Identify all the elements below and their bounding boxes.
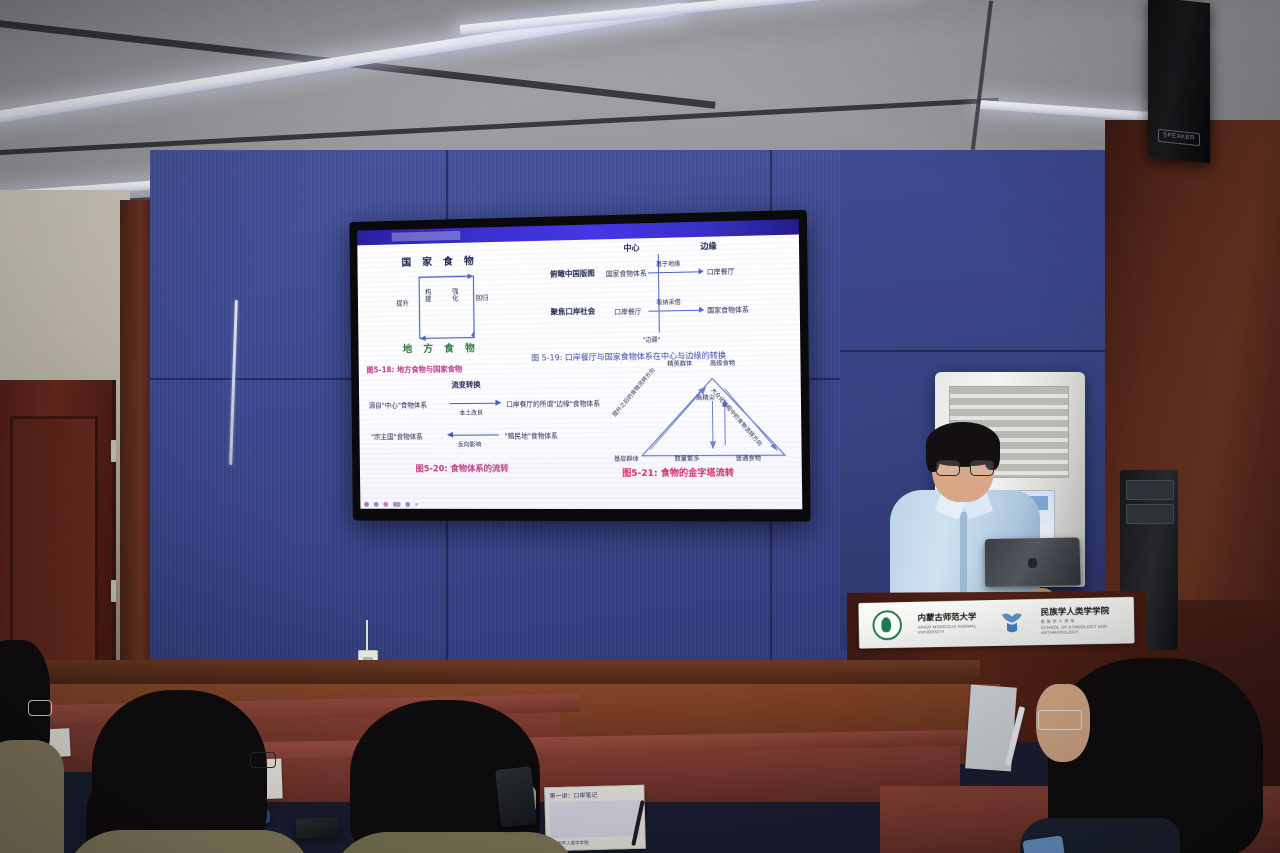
fig518-label-left-inner: 构建 bbox=[425, 289, 433, 303]
fig518-label-right-inner: 强化 bbox=[452, 288, 460, 302]
fig519-row1-from: 国家食物体系 bbox=[606, 267, 647, 278]
fig520-title: 流变转换 bbox=[451, 379, 480, 390]
fig520-row1-from: 源自"中心"食物体系 bbox=[369, 399, 427, 409]
fig519-row2-label: 聚焦口岸社会 bbox=[550, 306, 595, 318]
school-name: 民族学人类学学院 bbox=[1041, 607, 1120, 619]
school-logo-icon bbox=[999, 610, 1025, 635]
fig520-row2-from: "殖民地"食物体系 bbox=[505, 430, 558, 440]
fig519-axis-top-left: 中心 bbox=[623, 242, 639, 253]
fig520-row2-to: "宗主国"食物体系 bbox=[371, 431, 423, 441]
audience-member bbox=[72, 690, 302, 853]
fig518-top-node: 国 家 食 物 bbox=[401, 252, 477, 269]
lecture-hall-photo: SPEAKER 国 家 食 物 提升 bbox=[0, 0, 1280, 853]
fig519-row1-to: 口岸餐厅 bbox=[707, 266, 735, 277]
fig521-base-center-label: 数量繁多 bbox=[674, 453, 699, 462]
fig519-axis-top-right: 边缘 bbox=[700, 241, 716, 253]
fig520-row1-to: 口岸餐厅的所谓"边缘"食物体系 bbox=[506, 398, 600, 409]
av-device bbox=[1126, 504, 1174, 524]
figure-5-20-caption: 图5-20: 食物体系的流转 bbox=[416, 462, 509, 474]
fig521-apex-left-label: 精英群体 bbox=[667, 358, 692, 367]
baseboard-trim bbox=[0, 660, 980, 686]
slide-annotation-toolbar[interactable] bbox=[364, 502, 418, 507]
wall-speaker-box: SPEAKER bbox=[1148, 0, 1210, 163]
fig521-base-left-label: 基层群体 bbox=[614, 454, 639, 463]
fig519-row1-arrow-label: 基于地缘 bbox=[656, 259, 680, 269]
university-seal-icon bbox=[872, 610, 902, 640]
fig521-apex-right-label: 高级食物 bbox=[710, 358, 735, 367]
fig519-row1-label: 俯瞰中国版图 bbox=[550, 268, 595, 280]
fig519-row2-from: 口岸餐厅 bbox=[614, 306, 641, 317]
fig520-row2-arrow-label: 反向影响 bbox=[458, 440, 482, 449]
smartphone-held[interactable] bbox=[495, 766, 537, 827]
audience-member-photographing bbox=[320, 700, 570, 853]
podium-signage: 内蒙古师范大学 INNER MONGOLIA NORMAL UNIVERSITY… bbox=[858, 597, 1134, 649]
projection-screen[interactable]: 国 家 食 物 提升 构建 强化 回归 地 方 食 物 图5-18: 地方食物与… bbox=[349, 210, 810, 522]
audience-member bbox=[0, 640, 80, 853]
eraser-icon[interactable] bbox=[393, 502, 401, 507]
fig519-row2-to: 国家食物体系 bbox=[707, 304, 749, 315]
fig518-label-left-outer: 提升 bbox=[396, 297, 409, 307]
slide-surface: 国 家 食 物 提升 构建 强化 回归 地 方 食 物 图5-18: 地方食物与… bbox=[357, 219, 802, 509]
figure-5-20: 流变转换 源自"中心"食物体系 本土改良 口岸餐厅的所谓"边缘"食物体系 "宗主… bbox=[368, 378, 614, 459]
fig519-row2-arrow-label: 吸纳采借 bbox=[656, 297, 680, 307]
glasses-icon bbox=[936, 460, 992, 474]
fig519-axis-bottom: "边疆" bbox=[643, 335, 661, 344]
figure-5-21: 精英群体 高级食物 高精尖 基层群体 数量繁多 普通食物 提升之后的食物流转方向… bbox=[611, 357, 796, 470]
fig520-row1-arrow-label: 本土改良 bbox=[459, 408, 483, 417]
pen-icon[interactable] bbox=[383, 502, 388, 507]
audience-member-right bbox=[1030, 648, 1280, 853]
fig518-label-right-outer: 回归 bbox=[476, 292, 489, 302]
av-device bbox=[1126, 480, 1174, 500]
door[interactable] bbox=[0, 380, 116, 680]
speaker-brand-label: SPEAKER bbox=[1158, 129, 1200, 146]
more-icon[interactable] bbox=[415, 503, 418, 506]
figure-5-18-caption: 图5-18: 地方食物与国家食物 bbox=[366, 363, 462, 375]
presenter bbox=[880, 420, 1055, 620]
laptop-logo-icon bbox=[1028, 558, 1037, 568]
pointer-icon[interactable] bbox=[405, 502, 410, 507]
slide-content: 国 家 食 物 提升 构建 强化 回归 地 方 食 物 图5-18: 地方食物与… bbox=[357, 234, 802, 509]
pyramid-shape bbox=[631, 371, 795, 463]
figure-5-19: 中心 边缘 俯瞰中国版图 国家食物体系 基于地缘 口岸餐厅 聚焦口岸社会 口岸餐… bbox=[550, 239, 794, 357]
school-name-en: SCHOOL OF ETHNOLOGY AND ANTHROPOLOGY bbox=[1041, 623, 1120, 635]
outlet-wire bbox=[366, 620, 368, 652]
door-hinge-icon bbox=[111, 580, 116, 602]
settings-icon[interactable] bbox=[374, 502, 379, 507]
fig518-bottom-node: 地 方 食 物 bbox=[402, 339, 478, 355]
fig521-base-right-label: 普通食物 bbox=[736, 453, 762, 462]
university-name-en: INNER MONGOLIA NORMAL UNIVERSITY bbox=[918, 623, 983, 634]
figure-5-21-caption: 图5-21: 食物的金字塔流转 bbox=[622, 466, 734, 479]
door-panel bbox=[10, 416, 98, 672]
door-hinge-icon bbox=[111, 440, 116, 462]
laptop[interactable] bbox=[985, 537, 1081, 586]
record-icon[interactable] bbox=[364, 502, 369, 507]
figure-5-18: 国 家 食 物 提升 构建 强化 回归 地 方 食 物 bbox=[375, 251, 552, 368]
